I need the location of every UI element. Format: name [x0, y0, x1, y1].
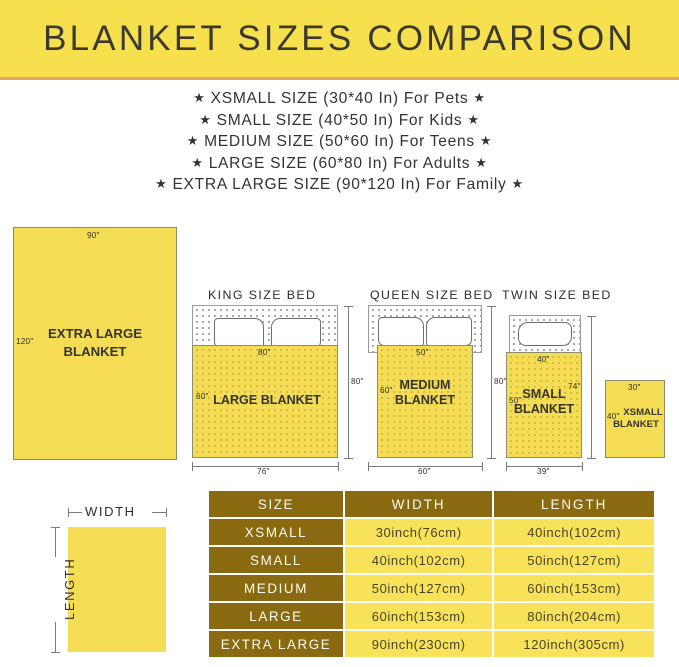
xsmall-blanket-label-line1: XSMALL	[607, 407, 665, 419]
king-blanket-width-dim: 80"	[258, 348, 271, 357]
wl-width-dim-tick-right	[166, 508, 167, 517]
list-item: ★MEDIUM SIZE (50*60 In) For Teens★	[0, 131, 679, 153]
wl-width-dim-line-right	[152, 512, 166, 513]
king-bed-pillow-left	[214, 318, 264, 348]
width-length-blanket-shape	[68, 527, 166, 652]
twin-bed-pillow	[518, 322, 572, 346]
list-item: ★LARGE SIZE (60*80 In) For Adults★	[0, 153, 679, 175]
king-length-dim-tick-top	[344, 306, 353, 307]
queen-bed-pillow-right	[426, 317, 472, 346]
cell-size: EXTRA LARGE	[209, 631, 343, 657]
queen-blanket-width-dim: 50"	[416, 348, 429, 357]
twin-width-dim-tick-left	[506, 462, 507, 471]
twin-length-dim-tick-top	[587, 316, 596, 317]
cell-length: 60inch(153cm)	[494, 575, 654, 601]
twin-width-dim-tick-right	[582, 462, 583, 471]
twin-bed-length-dim: 74"	[568, 382, 581, 391]
cell-width: 40inch(102cm)	[345, 547, 492, 573]
queen-width-dim-tick-right	[482, 462, 483, 471]
wl-length-dim-tick-top	[51, 527, 60, 528]
table-header-length: LENGTH	[494, 491, 654, 517]
twin-bed-width-dim: 39"	[537, 467, 550, 476]
star-icon: ★	[473, 88, 485, 109]
table-row: LARGE 60inch(153cm) 80inch(204cm)	[209, 603, 654, 629]
list-item-label: MEDIUM SIZE (50*60 In) For Teens	[204, 133, 475, 150]
list-item-label: LARGE SIZE (60*80 In) For Adults	[209, 155, 471, 172]
twin-length-dim-tick-bottom	[587, 458, 596, 459]
king-length-dim-tick-bottom	[344, 458, 353, 459]
star-icon: ★	[480, 131, 492, 152]
extra-large-blanket-label-line2: BLANKET	[13, 343, 177, 361]
width-label: WIDTH	[85, 504, 136, 519]
queen-length-dim-line	[491, 306, 492, 458]
extra-large-blanket-label: EXTRA LARGE BLANKET	[13, 325, 177, 361]
table-row: XSMALL 30inch(76cm) 40inch(102cm)	[209, 519, 654, 545]
star-icon: ★	[199, 110, 211, 131]
cell-length: 50inch(127cm)	[494, 547, 654, 573]
star-icon: ★	[155, 174, 167, 195]
length-label: LENGTH	[62, 558, 77, 620]
king-bed-pillow-right	[271, 318, 321, 348]
list-item: ★XSMALL SIZE (30*40 In) For Pets★	[0, 88, 679, 110]
wl-length-dim-line-top	[55, 527, 56, 557]
star-icon: ★	[467, 110, 479, 131]
queen-blanket-label-line2: BLANKET	[377, 393, 473, 408]
cell-length: 40inch(102cm)	[494, 519, 654, 545]
queen-width-dim-tick-left	[368, 462, 369, 471]
cell-width: 90inch(230cm)	[345, 631, 492, 657]
king-bed-width-dim: 76"	[257, 467, 270, 476]
queen-bed-width-dim: 60"	[418, 467, 431, 476]
star-icon: ★	[193, 88, 205, 109]
queen-bed-pillow-left	[378, 317, 424, 346]
table-header-row: SIZE WIDTH LENGTH	[209, 491, 654, 517]
list-item: ★SMALL SIZE (40*50 In) For Kids★	[0, 110, 679, 132]
star-icon: ★	[512, 174, 524, 195]
list-item: ★EXTRA LARGE SIZE (90*120 In) For Family…	[0, 174, 679, 196]
king-width-dim-tick-right	[338, 462, 339, 471]
header-divider-rule	[0, 77, 679, 80]
table-row: SMALL 40inch(102cm) 50inch(127cm)	[209, 547, 654, 573]
list-item-label: XSMALL SIZE (30*40 In) For Pets	[211, 90, 469, 107]
king-bed-length-dim: 80"	[351, 377, 364, 386]
twin-blanket-label-line2: BLANKET	[506, 402, 582, 417]
cell-size: LARGE	[209, 603, 343, 629]
wl-width-dim-line-left	[68, 512, 82, 513]
page-title: BLANKET SIZES COMPARISON	[0, 0, 679, 77]
table-header-width: WIDTH	[345, 491, 492, 517]
queen-bed-length-dim: 80"	[494, 377, 507, 386]
cell-length: 80inch(204cm)	[494, 603, 654, 629]
queen-bed-caption: QUEEN SIZE BED	[370, 288, 494, 302]
size-table: SIZE WIDTH LENGTH XSMALL 30inch(76cm) 40…	[207, 489, 656, 659]
list-item-label: EXTRA LARGE SIZE (90*120 In) For Family	[172, 176, 506, 193]
star-icon: ★	[187, 131, 199, 152]
extra-large-blanket-label-line1: EXTRA LARGE	[13, 325, 177, 343]
queen-blanket-label: MEDIUM BLANKET	[377, 378, 473, 408]
table-row: EXTRA LARGE 90inch(230cm) 120inch(305cm)	[209, 631, 654, 657]
cell-size: XSMALL	[209, 519, 343, 545]
xsmall-blanket-label-line2: BLANKET	[607, 419, 665, 431]
star-icon: ★	[191, 153, 203, 174]
cell-width: 60inch(153cm)	[345, 603, 492, 629]
wl-length-dim-line-bottom	[55, 622, 56, 652]
twin-length-dim-line	[591, 316, 592, 458]
wl-width-dim-tick-left	[68, 508, 69, 517]
xsmall-blanket-label: XSMALL BLANKET	[607, 407, 665, 431]
king-bed-caption: KING SIZE BED	[208, 288, 316, 302]
wl-length-dim-tick-bottom	[51, 652, 60, 653]
size-bullet-list: ★XSMALL SIZE (30*40 In) For Pets★ ★SMALL…	[0, 88, 679, 196]
cell-length: 120inch(305cm)	[494, 631, 654, 657]
table-row: MEDIUM 50inch(127cm) 60inch(153cm)	[209, 575, 654, 601]
king-length-dim-line	[348, 306, 349, 458]
cell-width: 30inch(76cm)	[345, 519, 492, 545]
cell-size: SMALL	[209, 547, 343, 573]
cell-size: MEDIUM	[209, 575, 343, 601]
list-item-label: SMALL SIZE (40*50 In) For Kids	[217, 112, 463, 129]
table-header-size: SIZE	[209, 491, 343, 517]
queen-length-dim-tick-bottom	[487, 458, 496, 459]
queen-length-dim-tick-top	[487, 306, 496, 307]
cell-width: 50inch(127cm)	[345, 575, 492, 601]
queen-blanket-label-line1: MEDIUM	[377, 378, 473, 393]
extra-large-blanket-width-dim: 90"	[87, 231, 100, 240]
xsmall-blanket-width-dim: 30"	[628, 383, 641, 392]
king-blanket-label: LARGE BLANKET	[196, 393, 338, 408]
twin-bed-caption: TWIN SIZE BED	[502, 288, 612, 302]
king-width-dim-tick-left	[192, 462, 193, 471]
star-icon: ★	[475, 153, 487, 174]
twin-blanket-label: SMALL BLANKET	[506, 387, 582, 417]
twin-blanket-width-dim: 40"	[537, 355, 550, 364]
